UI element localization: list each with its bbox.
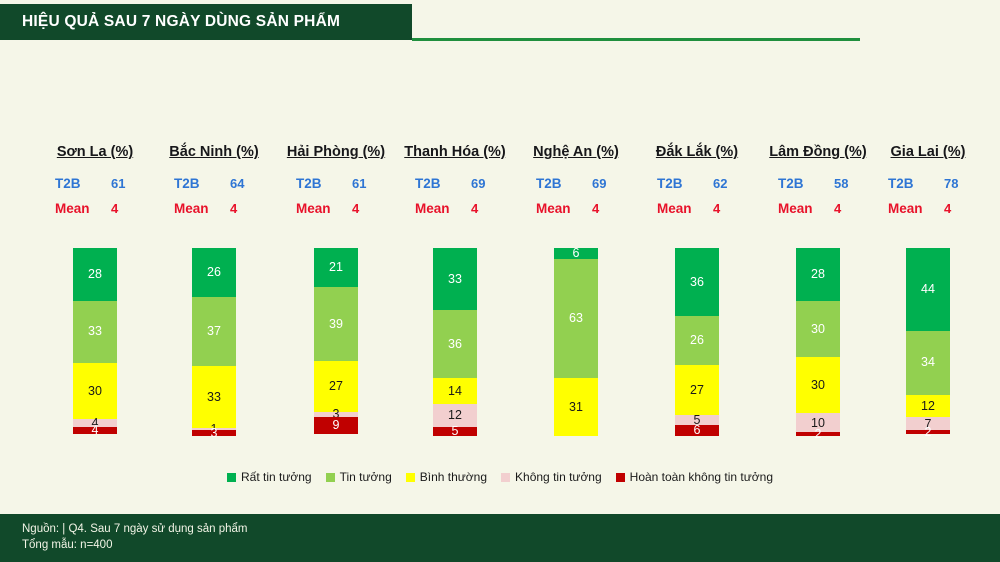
bar-segment: 6	[554, 248, 598, 259]
bar-segment-value: 26	[690, 334, 704, 347]
bar-segment: 44	[906, 248, 950, 331]
t2b-value: 62	[713, 176, 737, 191]
bar-segment: 63	[554, 259, 598, 377]
bar-segment-value: 26	[207, 266, 221, 279]
mean-stat-row: Mean4	[516, 201, 636, 216]
column-title: Đắk Lắk (%)	[637, 144, 757, 160]
t2b-value: 78	[944, 176, 968, 191]
mean-stat-row: Mean4	[395, 201, 515, 216]
bar-segment: 9	[314, 417, 358, 434]
column-title: Gia Lai (%)	[868, 144, 988, 160]
bar-segment-value: 27	[690, 384, 704, 397]
t2b-value: 64	[230, 176, 254, 191]
footer-sample-size: Tổng mẫu: n=400	[22, 537, 1000, 553]
t2b-label: T2B	[174, 176, 214, 191]
bar-segment: 30	[796, 357, 840, 413]
mean-label: Mean	[778, 201, 818, 216]
chart-column-8: Gia Lai (%)T2B78Mean4	[868, 144, 988, 216]
mean-value: 4	[352, 201, 376, 216]
footer-source: Nguồn: | Q4. Sau 7 ngày sử dụng sản phẩm	[22, 521, 1000, 537]
mean-label: Mean	[888, 201, 928, 216]
stacked-bar: 26373313	[192, 248, 236, 436]
bar-segment: 3	[192, 430, 236, 436]
stacked-bar: 28333044	[73, 248, 117, 436]
bar-segment-value: 3	[211, 427, 218, 440]
stacked-bar: 36262756	[675, 248, 719, 436]
bar-segment: 5	[433, 427, 477, 436]
bar-segment-value: 31	[569, 401, 583, 414]
stacked-bar: 21392739	[314, 248, 358, 436]
bar-segment-value: 9	[333, 419, 340, 432]
chart-column-1: Sơn La (%)T2B61Mean4	[35, 144, 155, 216]
bar-segment: 31	[554, 378, 598, 436]
bar-segment: 36	[675, 248, 719, 316]
bar-segment-value: 30	[811, 323, 825, 336]
bar-segment-value: 33	[88, 325, 102, 338]
mean-value: 4	[471, 201, 495, 216]
t2b-label: T2B	[415, 176, 455, 191]
bar-segment: 26	[675, 316, 719, 365]
legend-swatch-icon	[616, 473, 625, 482]
bar-segment-value: 28	[811, 268, 825, 281]
bar-segment-value: 6	[573, 247, 580, 260]
bar-segment-value: 36	[690, 276, 704, 289]
bar-segment-value: 12	[448, 409, 462, 422]
mean-stat-row: Mean4	[35, 201, 155, 216]
legend-swatch-icon	[406, 473, 415, 482]
bar-segment-value: 33	[207, 391, 221, 404]
bar-segment: 2	[796, 432, 840, 436]
bar-segment-value: 30	[811, 379, 825, 392]
mean-stat-row: Mean4	[868, 201, 988, 216]
bar-segment: 30	[796, 301, 840, 357]
bar-segment: 30	[73, 363, 117, 419]
bar-segment: 28	[796, 248, 840, 301]
mean-value: 4	[230, 201, 254, 216]
legend-swatch-icon	[326, 473, 335, 482]
t2b-label: T2B	[536, 176, 576, 191]
mean-label: Mean	[536, 201, 576, 216]
t2b-label: T2B	[888, 176, 928, 191]
t2b-stat-row: T2B78	[868, 176, 988, 191]
stacked-bar: 283030102	[796, 248, 840, 436]
t2b-label: T2B	[55, 176, 95, 191]
t2b-stat-row: T2B61	[276, 176, 396, 191]
bar-segment: 28	[73, 248, 117, 301]
column-title: Lâm Đồng (%)	[758, 144, 878, 160]
bar-segment-value: 4	[92, 424, 99, 437]
legend-item[interactable]: Tin tưởng	[326, 470, 392, 484]
mean-value: 4	[834, 201, 858, 216]
t2b-value: 61	[352, 176, 376, 191]
chart-column-3: Hải Phòng (%)T2B61Mean4	[276, 144, 396, 216]
t2b-label: T2B	[657, 176, 697, 191]
bar-segment: 14	[433, 378, 477, 404]
t2b-value: 58	[834, 176, 858, 191]
bar-segment: 33	[192, 366, 236, 428]
bar-segment: 27	[314, 361, 358, 412]
bar-segment: 4	[73, 427, 117, 435]
mean-value: 4	[592, 201, 616, 216]
bar-segment: 37	[192, 297, 236, 367]
mean-label: Mean	[657, 201, 697, 216]
t2b-stat-row: T2B62	[637, 176, 757, 191]
bar-segment-value: 6	[694, 424, 701, 437]
mean-stat-row: Mean4	[758, 201, 878, 216]
legend-label: Hoàn toàn không tin tưởng	[630, 470, 773, 484]
bar-segment: 6	[675, 425, 719, 436]
t2b-label: T2B	[778, 176, 818, 191]
legend-label: Bình thường	[420, 470, 487, 484]
legend-label: Không tin tưởng	[515, 470, 602, 484]
bar-segment: 2	[906, 430, 950, 434]
bar-segment-value: 34	[921, 356, 935, 369]
bar-segment-value: 14	[448, 385, 462, 398]
bar-segment-value: 30	[88, 385, 102, 398]
stacked-bar: 6633100	[554, 248, 598, 436]
bar-segment: 12	[906, 395, 950, 418]
column-title: Nghệ An (%)	[516, 144, 636, 160]
legend-swatch-icon	[501, 473, 510, 482]
bar-segment-value: 28	[88, 268, 102, 281]
legend-item[interactable]: Hoàn toàn không tin tưởng	[616, 470, 773, 484]
legend-swatch-icon	[227, 473, 236, 482]
slide-footer: Nguồn: | Q4. Sau 7 ngày sử dụng sản phẩm…	[0, 514, 1000, 562]
bar-segment-value: 12	[921, 400, 935, 413]
mean-value: 4	[713, 201, 737, 216]
t2b-value: 69	[592, 176, 616, 191]
bar-segment: 21	[314, 248, 358, 287]
stacked-bar: 333614125	[433, 248, 477, 436]
mean-value: 4	[111, 201, 135, 216]
t2b-stat-row: T2B58	[758, 176, 878, 191]
bar-segment: 26	[192, 248, 236, 297]
chart-column-5: Nghệ An (%)T2B69Mean4	[516, 144, 636, 216]
t2b-stat-row: T2B69	[395, 176, 515, 191]
bar-segment-value: 2	[925, 426, 932, 439]
legend-item[interactable]: Không tin tưởng	[501, 470, 602, 484]
mean-label: Mean	[55, 201, 95, 216]
bar-segment: 39	[314, 287, 358, 360]
bar-segment-value: 36	[448, 338, 462, 351]
chart-column-2: Bắc Ninh (%)T2B64Mean4	[154, 144, 274, 216]
bar-segment: 33	[433, 248, 477, 310]
legend-item[interactable]: Bình thường	[406, 470, 487, 484]
bar-segment: 33	[73, 301, 117, 363]
t2b-stat-row: T2B64	[154, 176, 274, 191]
legend-label: Rất tin tưởng	[241, 470, 312, 484]
t2b-stat-row: T2B69	[516, 176, 636, 191]
legend-item[interactable]: Rất tin tưởng	[227, 470, 312, 484]
chart-legend: Rất tin tưởngTin tưởngBình thườngKhông t…	[0, 470, 1000, 484]
bar-segment-value: 37	[207, 325, 221, 338]
chart-column-7: Lâm Đồng (%)T2B58Mean4	[758, 144, 878, 216]
mean-stat-row: Mean4	[276, 201, 396, 216]
column-title: Hải Phòng (%)	[276, 144, 396, 160]
bar-segment-value: 5	[452, 425, 459, 438]
mean-label: Mean	[296, 201, 336, 216]
bar-segment-value: 39	[329, 318, 343, 331]
column-title: Sơn La (%)	[35, 144, 155, 160]
chart-column-4: Thanh Hóa (%)T2B69Mean4	[395, 144, 515, 216]
column-title: Bắc Ninh (%)	[154, 144, 274, 160]
t2b-label: T2B	[296, 176, 336, 191]
mean-stat-row: Mean4	[637, 201, 757, 216]
slide-canvas: HIỆU QUẢ SAU 7 NGÀY DÙNG SẢN PHẨM Sơn La…	[0, 0, 1000, 562]
mean-label: Mean	[174, 201, 214, 216]
bar-segment-value: 33	[448, 273, 462, 286]
bar-segment: 36	[433, 310, 477, 378]
t2b-value: 61	[111, 176, 135, 191]
bar-segment-value: 44	[921, 283, 935, 296]
t2b-value: 69	[471, 176, 495, 191]
legend-label: Tin tưởng	[340, 470, 392, 484]
column-title: Thanh Hóa (%)	[395, 144, 515, 160]
bar-segment: 34	[906, 331, 950, 395]
stacked-bar: 44341272	[906, 248, 950, 436]
mean-label: Mean	[415, 201, 455, 216]
bar-segment: 27	[675, 365, 719, 416]
bar-segment-value: 27	[329, 380, 343, 393]
bar-segment-value: 63	[569, 312, 583, 325]
mean-value: 4	[944, 201, 968, 216]
bar-segment-value: 2	[815, 428, 822, 441]
t2b-stat-row: T2B61	[35, 176, 155, 191]
bar-segment-value: 21	[329, 261, 343, 274]
mean-stat-row: Mean4	[154, 201, 274, 216]
chart-column-6: Đắk Lắk (%)T2B62Mean4	[637, 144, 757, 216]
